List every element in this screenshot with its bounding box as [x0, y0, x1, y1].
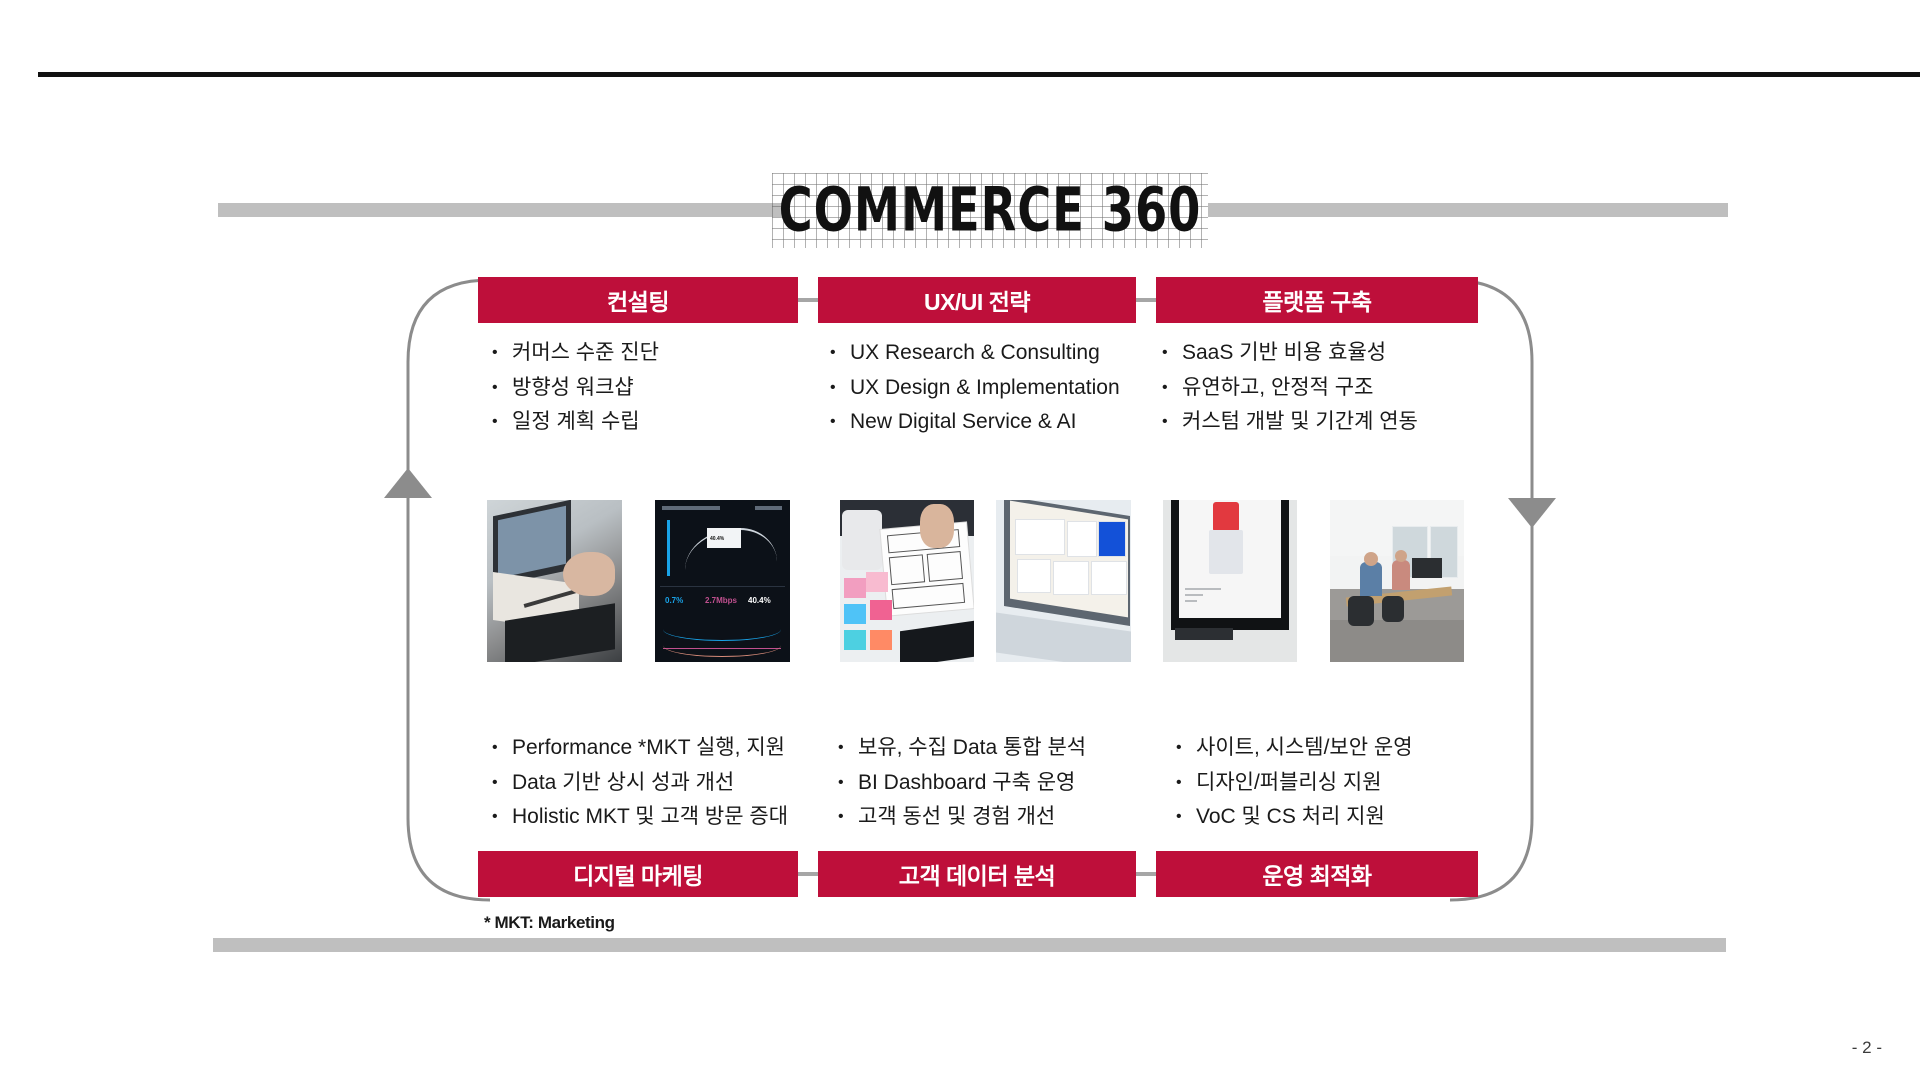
- header-box-operation-optimization[interactable]: 운영 최적화: [1156, 851, 1478, 897]
- header-connector: [798, 872, 818, 876]
- bullet-list-platform-build: SaaS 기반 비용 효율성 유연하고, 안정적 구조 커스텀 개발 및 기간계…: [1160, 336, 1418, 440]
- list-item: 유연하고, 안정적 구조: [1160, 371, 1418, 406]
- page-number: - 2 -: [1852, 1038, 1882, 1058]
- list-item: 고객 동선 및 경험 개선: [836, 800, 1086, 835]
- header-connector: [1136, 872, 1156, 876]
- list-item: BI Dashboard 구축 운영: [836, 766, 1086, 801]
- arrow-down-icon: [1508, 498, 1556, 528]
- header-box-platform-build[interactable]: 플랫폼 구축: [1156, 277, 1478, 323]
- header-connector: [1136, 298, 1156, 302]
- bottom-header-row: 디지털 마케팅 고객 데이터 분석 운영 최적화: [478, 851, 1478, 897]
- list-item: Data 기반 상시 성과 개선: [490, 766, 788, 801]
- laptop-notebook-photo: [487, 500, 622, 662]
- bullet-list-digital-marketing: Performance *MKT 실행, 지원 Data 기반 상시 성과 개선…: [490, 731, 788, 835]
- list-item: 커머스 수준 진단: [490, 336, 659, 371]
- footnote: * MKT: Marketing: [484, 913, 615, 933]
- list-item: UX Research & Consulting: [828, 336, 1120, 371]
- header-connector: [798, 298, 818, 302]
- list-item: 사이트, 시스템/보안 운영: [1174, 731, 1413, 766]
- bi-dashboard-laptop-photo: [996, 500, 1131, 662]
- list-item: 디자인/퍼블리싱 지원: [1174, 766, 1413, 801]
- office-workspace-photo: [1330, 500, 1464, 662]
- bullet-list-operation-optimization: 사이트, 시스템/보안 운영 디자인/퍼블리싱 지원 VoC 및 CS 처리 지…: [1174, 731, 1413, 835]
- list-item: New Digital Service & AI: [828, 405, 1120, 440]
- header-box-customer-data-analysis[interactable]: 고객 데이터 분석: [818, 851, 1136, 897]
- list-item: UX Design & Implementation: [828, 371, 1120, 406]
- top-divider-rule: [38, 72, 1920, 77]
- list-item: Performance *MKT 실행, 지원: [490, 731, 788, 766]
- title-bar-right: [1208, 203, 1728, 217]
- title-bar-left: [218, 203, 788, 217]
- bullet-list-customer-data-analysis: 보유, 수집 Data 통합 분석 BI Dashboard 구축 운영 고객 …: [836, 731, 1086, 835]
- wireframe-workshop-photo: [840, 500, 974, 662]
- ecommerce-site-photo: [1163, 500, 1297, 662]
- list-item: 일정 계획 수립: [490, 405, 659, 440]
- list-item: 방향성 워크샵: [490, 371, 659, 406]
- list-item: 커스텀 개발 및 기간계 연동: [1160, 405, 1418, 440]
- header-box-uxui-strategy[interactable]: UX/UI 전략: [818, 277, 1136, 323]
- list-item: SaaS 기반 비용 효율성: [1160, 336, 1418, 371]
- list-item: Holistic MKT 및 고객 방문 증대: [490, 800, 788, 835]
- slide-title-block: COMMERCE 360: [772, 173, 1208, 248]
- bullet-list-uxui-strategy: UX Research & Consulting UX Design & Imp…: [828, 336, 1120, 440]
- arrow-up-icon: [384, 468, 432, 498]
- header-box-consulting[interactable]: 컨설팅: [478, 277, 798, 323]
- page-title: COMMERCE 360: [789, 170, 1190, 251]
- bottom-bar: [213, 938, 1726, 952]
- list-item: 보유, 수집 Data 통합 분석: [836, 731, 1086, 766]
- list-item: VoC 및 CS 처리 지원: [1174, 800, 1413, 835]
- analytics-dashboard-photo: 40.4% 0.7%2.7Mbps40.4%: [655, 500, 790, 662]
- top-header-row: 컨설팅 UX/UI 전략 플랫폼 구축: [478, 277, 1478, 323]
- bullet-list-consulting: 커머스 수준 진단 방향성 워크샵 일정 계획 수립: [490, 336, 659, 440]
- loop-path-left: [408, 280, 490, 900]
- header-box-digital-marketing[interactable]: 디지털 마케팅: [478, 851, 798, 897]
